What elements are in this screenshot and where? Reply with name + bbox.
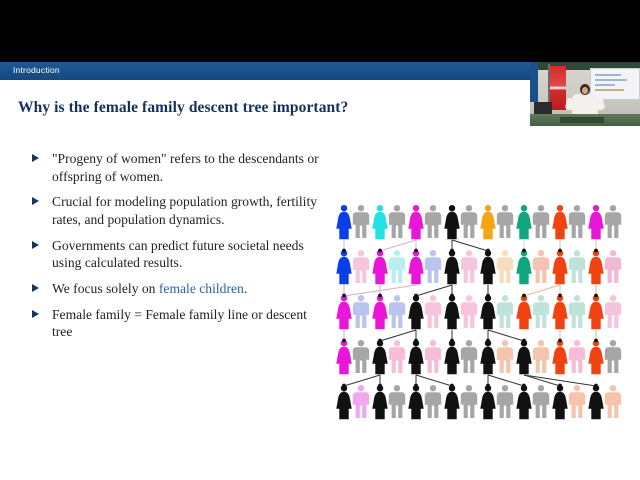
lectern-plate [560, 117, 604, 123]
female-figure-icon [444, 340, 459, 374]
tree-node-dot [594, 294, 598, 298]
slide-line [595, 89, 624, 91]
tree-node-dot [522, 294, 526, 298]
tree-node-dot [414, 384, 418, 388]
tree-node-dot [558, 294, 562, 298]
bullet-text: Governments can predict future societal … [52, 238, 304, 271]
female-figure-icon [408, 295, 423, 329]
male-figure-icon [569, 295, 585, 328]
tree-link [380, 240, 416, 251]
female-figure-icon [408, 385, 423, 419]
video-player-stage: Introduction Why is the female family de… [0, 0, 640, 480]
left-panel [530, 62, 538, 102]
female-figure-icon [552, 340, 567, 374]
flag-icon [550, 66, 566, 110]
male-figure-icon [605, 385, 621, 418]
male-figure-icon [353, 205, 369, 238]
tree-link [380, 330, 416, 341]
tree-node-dot [522, 384, 526, 388]
male-figure-icon [461, 295, 477, 328]
male-figure-icon [461, 340, 477, 373]
bullet-item: Female family = Female family line or de… [30, 306, 330, 341]
male-figure-icon [389, 340, 405, 373]
female-figure-icon [480, 205, 495, 239]
triangle-right-icon [32, 241, 39, 249]
female-figure-icon [480, 250, 495, 284]
male-figure-icon [353, 340, 369, 373]
male-figure-icon [497, 295, 513, 328]
speaker-body [572, 94, 598, 116]
female-figure-icon [516, 340, 531, 374]
tree-node-dot [342, 384, 346, 388]
female-figure-icon [336, 340, 351, 374]
male-figure-icon [497, 205, 513, 238]
female-figure-icon [444, 205, 459, 239]
tree-node-dot [486, 249, 490, 253]
male-figure-icon [425, 205, 441, 238]
presenter-video-inset[interactable] [530, 62, 640, 126]
female-figure-icon [408, 205, 423, 239]
tree-node-dot [414, 249, 418, 253]
male-figure-icon [533, 205, 549, 238]
male-figure-icon [569, 340, 585, 373]
bullet-list: "Progeny of women" refers to the descend… [30, 150, 330, 349]
female-figure-icon [336, 385, 351, 419]
tree-node-dot [594, 339, 598, 343]
female-figure-icon [408, 250, 423, 284]
tree-link [488, 375, 524, 386]
female-figure-icon [588, 205, 603, 239]
male-figure-icon [461, 205, 477, 238]
male-figure-icon [353, 385, 369, 418]
male-figure-icon [569, 385, 585, 418]
tree-node-dot [486, 339, 490, 343]
male-figure-icon [605, 295, 621, 328]
tree-node-dot [378, 294, 382, 298]
female-figure-icon [372, 205, 387, 239]
slide-line [595, 79, 627, 81]
male-figure-icon [389, 250, 405, 283]
male-figure-icon [425, 295, 441, 328]
tree-generation-row [336, 295, 621, 329]
male-figure-icon [605, 250, 621, 283]
female-figure-icon [480, 295, 495, 329]
male-figure-icon [425, 340, 441, 373]
triangle-right-icon [32, 310, 39, 318]
female-figure-icon [480, 340, 495, 374]
female-figure-icon [372, 385, 387, 419]
tree-node-dot [450, 384, 454, 388]
male-figure-icon [461, 250, 477, 283]
female-figure-icon [516, 250, 531, 284]
page-title: Why is the female family descent tree im… [18, 99, 348, 117]
tree-node-dot [558, 339, 562, 343]
female-figure-icon [480, 385, 495, 419]
male-figure-icon [533, 250, 549, 283]
male-figure-icon [497, 250, 513, 283]
female-figure-icon [336, 250, 351, 284]
tree-node-dot [342, 339, 346, 343]
bullet-text: "Progeny of women" refers to the descend… [52, 151, 319, 184]
bullet-text: Crucial for modeling population growth, … [52, 194, 317, 227]
bullet-highlight: female children [159, 281, 244, 296]
tree-generation-row [336, 385, 621, 419]
male-figure-icon [533, 385, 549, 418]
bullet-text: Female family = Female family line or de… [52, 307, 307, 340]
tree-node-dot [486, 294, 490, 298]
tree-link [452, 240, 488, 251]
bullet-item: Governments can predict future societal … [30, 237, 330, 272]
tree-node-dot [450, 249, 454, 253]
female-figure-icon [552, 250, 567, 284]
tree-node-dot [522, 339, 526, 343]
female-figure-icon [516, 205, 531, 239]
female-figure-icon [588, 295, 603, 329]
tree-node-dot [558, 249, 562, 253]
tree-link [524, 285, 560, 296]
tree-link [416, 285, 452, 296]
tree-svg [333, 202, 623, 427]
male-figure-icon [425, 250, 441, 283]
triangle-right-icon [32, 284, 39, 292]
tree-link [488, 330, 524, 341]
tree-node-dot [378, 384, 382, 388]
slide-line [595, 74, 621, 76]
tree-link [344, 375, 380, 386]
triangle-right-icon [32, 154, 39, 162]
tree-node-dot [342, 249, 346, 253]
female-figure-icon [552, 295, 567, 329]
tree-node-dot [522, 249, 526, 253]
male-figure-icon [389, 385, 405, 418]
male-figure-icon [497, 385, 513, 418]
bullet-item: Crucial for modeling population growth, … [30, 193, 330, 228]
tree-node-dot [594, 384, 598, 388]
tree-generation-row [336, 250, 621, 284]
tree-node-dot [486, 384, 490, 388]
male-figure-icon [389, 205, 405, 238]
female-figure-icon [552, 385, 567, 419]
male-figure-icon [605, 340, 621, 373]
female-figure-icon [408, 340, 423, 374]
bullet-text: We focus solely on [52, 281, 159, 296]
male-figure-icon [569, 205, 585, 238]
male-figure-icon [389, 295, 405, 328]
male-figure-icon [605, 205, 621, 238]
tree-node-dot [594, 249, 598, 253]
male-figure-icon [497, 340, 513, 373]
female-figure-icon [372, 295, 387, 329]
female-figure-icon [336, 295, 351, 329]
female-figure-icon [552, 205, 567, 239]
tree-node-dot [414, 294, 418, 298]
female-figure-icon [372, 340, 387, 374]
tree-node-dot [414, 339, 418, 343]
section-label: Introduction [13, 65, 60, 75]
tree-link [524, 375, 560, 386]
female-figure-icon [372, 250, 387, 284]
male-figure-icon [533, 340, 549, 373]
female-figure-icon [588, 250, 603, 284]
female-figure-icon [516, 385, 531, 419]
bullet-item: "Progeny of women" refers to the descend… [30, 150, 330, 185]
tree-node-dot [378, 339, 382, 343]
male-figure-icon [353, 295, 369, 328]
male-figure-icon [569, 250, 585, 283]
tree-node-dot [450, 339, 454, 343]
projected-slide [590, 68, 640, 100]
slide-line [595, 84, 615, 86]
female-figure-icon [588, 385, 603, 419]
male-figure-icon [425, 385, 441, 418]
bullet-item: We focus solely on female children. [30, 280, 330, 298]
tree-node-dot [558, 384, 562, 388]
female-figure-icon [588, 340, 603, 374]
speaker-face [582, 87, 588, 94]
tree-link [416, 375, 452, 386]
female-figure-icon [444, 250, 459, 284]
tree-generation-row [336, 205, 621, 239]
female-figure-icon [516, 295, 531, 329]
male-figure-icon [533, 295, 549, 328]
female-descent-tree-figure [333, 202, 623, 427]
tree-node-dot [342, 294, 346, 298]
bullet-text: . [244, 281, 247, 296]
male-figure-icon [461, 385, 477, 418]
female-figure-icon [444, 295, 459, 329]
tree-node-dot [378, 249, 382, 253]
triangle-right-icon [32, 197, 39, 205]
female-figure-icon [444, 385, 459, 419]
tree-generation-row [336, 340, 621, 374]
tree-node-dot [450, 294, 454, 298]
female-figure-icon [336, 205, 351, 239]
male-figure-icon [353, 250, 369, 283]
